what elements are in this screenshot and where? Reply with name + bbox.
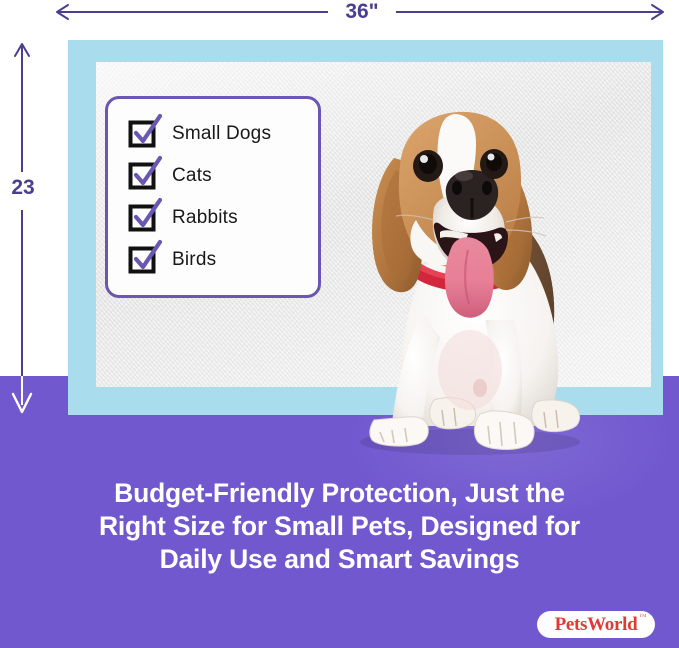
compatible-pets-checklist: Small Dogs Cats Rabbits bbox=[105, 96, 321, 298]
checklist-item: Birds bbox=[130, 239, 318, 281]
checked-checkbox-icon bbox=[130, 121, 156, 147]
headline-line-1: Budget-Friendly Protection, Just the bbox=[36, 477, 643, 510]
checked-checkbox-icon bbox=[130, 163, 156, 189]
height-dimension-arrow-upper bbox=[15, 44, 29, 172]
checklist-item-label: Birds bbox=[172, 249, 216, 271]
checklist-item: Cats bbox=[130, 155, 318, 197]
headline-line-3: Daily Use and Smart Savings bbox=[36, 543, 643, 576]
checklist-item-label: Cats bbox=[172, 165, 212, 187]
trademark-symbol: ™ bbox=[639, 612, 647, 621]
brand-name: PetsWorld bbox=[555, 614, 638, 635]
checked-checkbox-icon bbox=[130, 247, 156, 273]
checklist-item-label: Rabbits bbox=[172, 207, 238, 229]
beagle-dog-photo bbox=[330, 70, 610, 460]
width-dimension-label: 36" bbox=[332, 0, 392, 24]
checklist-item: Small Dogs bbox=[130, 113, 318, 155]
brand-logo: PetsWorld ™ bbox=[537, 611, 655, 638]
checklist-item: Rabbits bbox=[130, 197, 318, 239]
product-infographic: Small Dogs Cats Rabbits bbox=[0, 0, 679, 648]
checklist-item-label: Small Dogs bbox=[172, 123, 271, 145]
checked-checkbox-icon bbox=[130, 205, 156, 231]
brand-logo-text: PetsWorld ™ bbox=[555, 614, 638, 636]
height-dimension-label: 23 bbox=[2, 176, 44, 200]
headline: Budget-Friendly Protection, Just the Rig… bbox=[36, 477, 643, 576]
headline-line-2: Right Size for Small Pets, Designed for bbox=[36, 510, 643, 543]
